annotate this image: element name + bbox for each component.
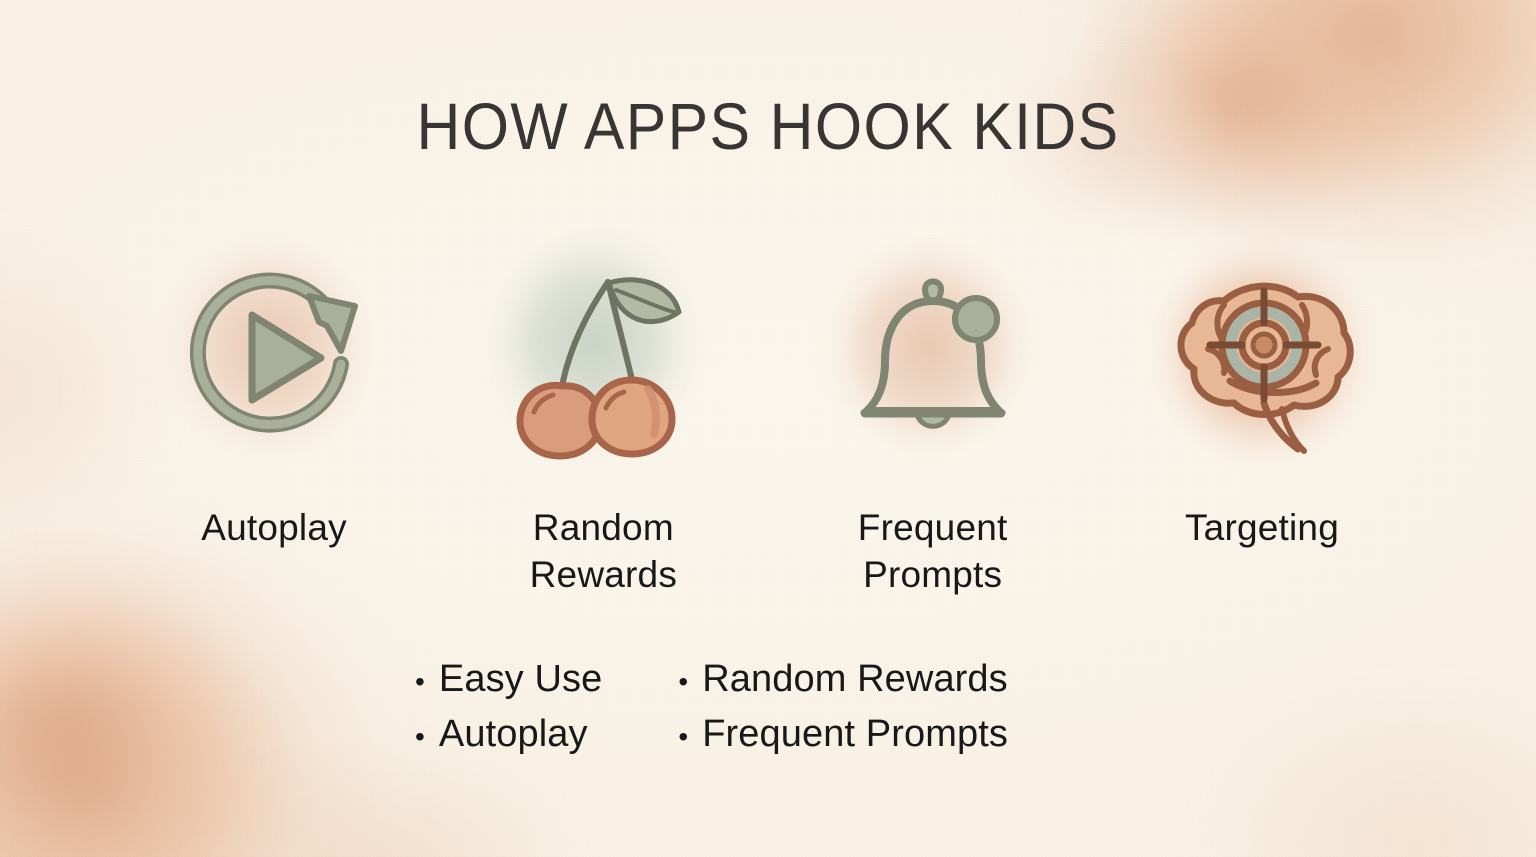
list-item-label: Easy Use — [439, 652, 602, 707]
brain-target-icon — [1152, 257, 1372, 457]
feature-item-targeting: Targeting — [1128, 232, 1396, 551]
infographic-canvas: HOW APPS HOOK KIDS Autoplay — [0, 0, 1536, 857]
bullet-column-left: • Easy Use • Autoplay — [415, 652, 602, 762]
feature-label-random-rewards: Random Rewards — [488, 504, 718, 599]
feature-label-autoplay: Autoplay — [201, 504, 347, 551]
cherries-icon-wrap — [478, 232, 728, 482]
feature-item-autoplay: Autoplay — [140, 232, 408, 551]
bell-icon-wrap — [808, 232, 1058, 482]
list-item: • Easy Use — [415, 652, 602, 707]
list-item: • Random Rewards — [678, 652, 1008, 707]
feature-item-random-rewards: Random Rewards — [469, 232, 737, 599]
feature-item-frequent-prompts: Frequent Prompts — [799, 232, 1067, 599]
list-item-label: Frequent Prompts — [702, 707, 1008, 762]
feature-icon-row: Autoplay — [140, 232, 1396, 599]
list-item-label: Random Rewards — [702, 652, 1008, 707]
bullet-column-right: • Random Rewards • Frequent Prompts — [678, 652, 1008, 762]
summary-bullet-lists: • Easy Use • Autoplay • Random Rewards •… — [415, 652, 1008, 762]
bullet-dot-icon: • — [678, 723, 688, 751]
feature-label-targeting: Targeting — [1185, 504, 1339, 551]
bullet-dot-icon: • — [415, 668, 425, 696]
bullet-dot-icon: • — [678, 668, 688, 696]
bullet-dot-icon: • — [415, 723, 425, 751]
list-item: • Autoplay — [415, 707, 602, 762]
list-item: • Frequent Prompts — [678, 707, 1008, 762]
autoplay-loop-icon — [169, 252, 379, 462]
cherries-icon — [496, 250, 711, 465]
notification-bell-icon — [833, 257, 1033, 457]
page-title: HOW APPS HOOK KIDS — [61, 88, 1474, 164]
brain-icon-wrap — [1137, 232, 1387, 482]
autoplay-icon-wrap — [149, 232, 399, 482]
list-item-label: Autoplay — [439, 707, 588, 762]
feature-label-frequent-prompts: Frequent Prompts — [818, 504, 1048, 599]
